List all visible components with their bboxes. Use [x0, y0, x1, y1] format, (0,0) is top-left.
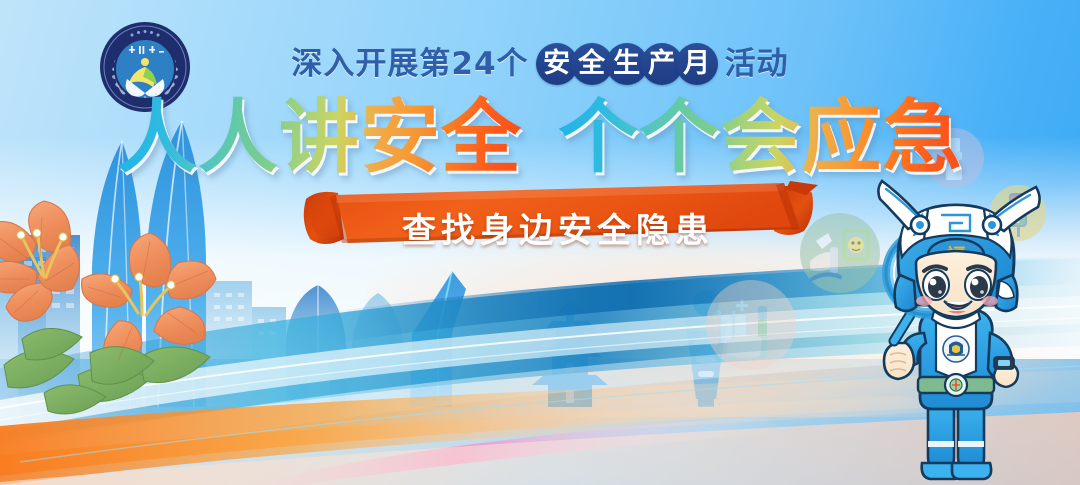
subtitle-trail: 活动	[725, 49, 789, 80]
ribbon-banner: 查找身边安全隐患	[298, 181, 818, 259]
subtitle-lead: 深入开展第24个	[291, 49, 528, 80]
safety-mascot: 福	[836, 165, 1068, 485]
safety-production-month-poster: 深入开展第24个 安 全 生 产 月 活动 人人讲安全 个个会应急	[0, 0, 1080, 485]
bauhinia-flowers	[0, 197, 282, 427]
subtitle-line: 深入开展第24个 安 全 生 产 月 活动	[0, 40, 1080, 88]
headline-part-1: 人人讲安全	[117, 92, 522, 184]
gas-cylinder-icon-badge	[706, 280, 796, 370]
subtitle-highlight-pills: 安 全 生 产 月	[536, 43, 718, 85]
highlight-pill-5: 月	[676, 43, 718, 85]
